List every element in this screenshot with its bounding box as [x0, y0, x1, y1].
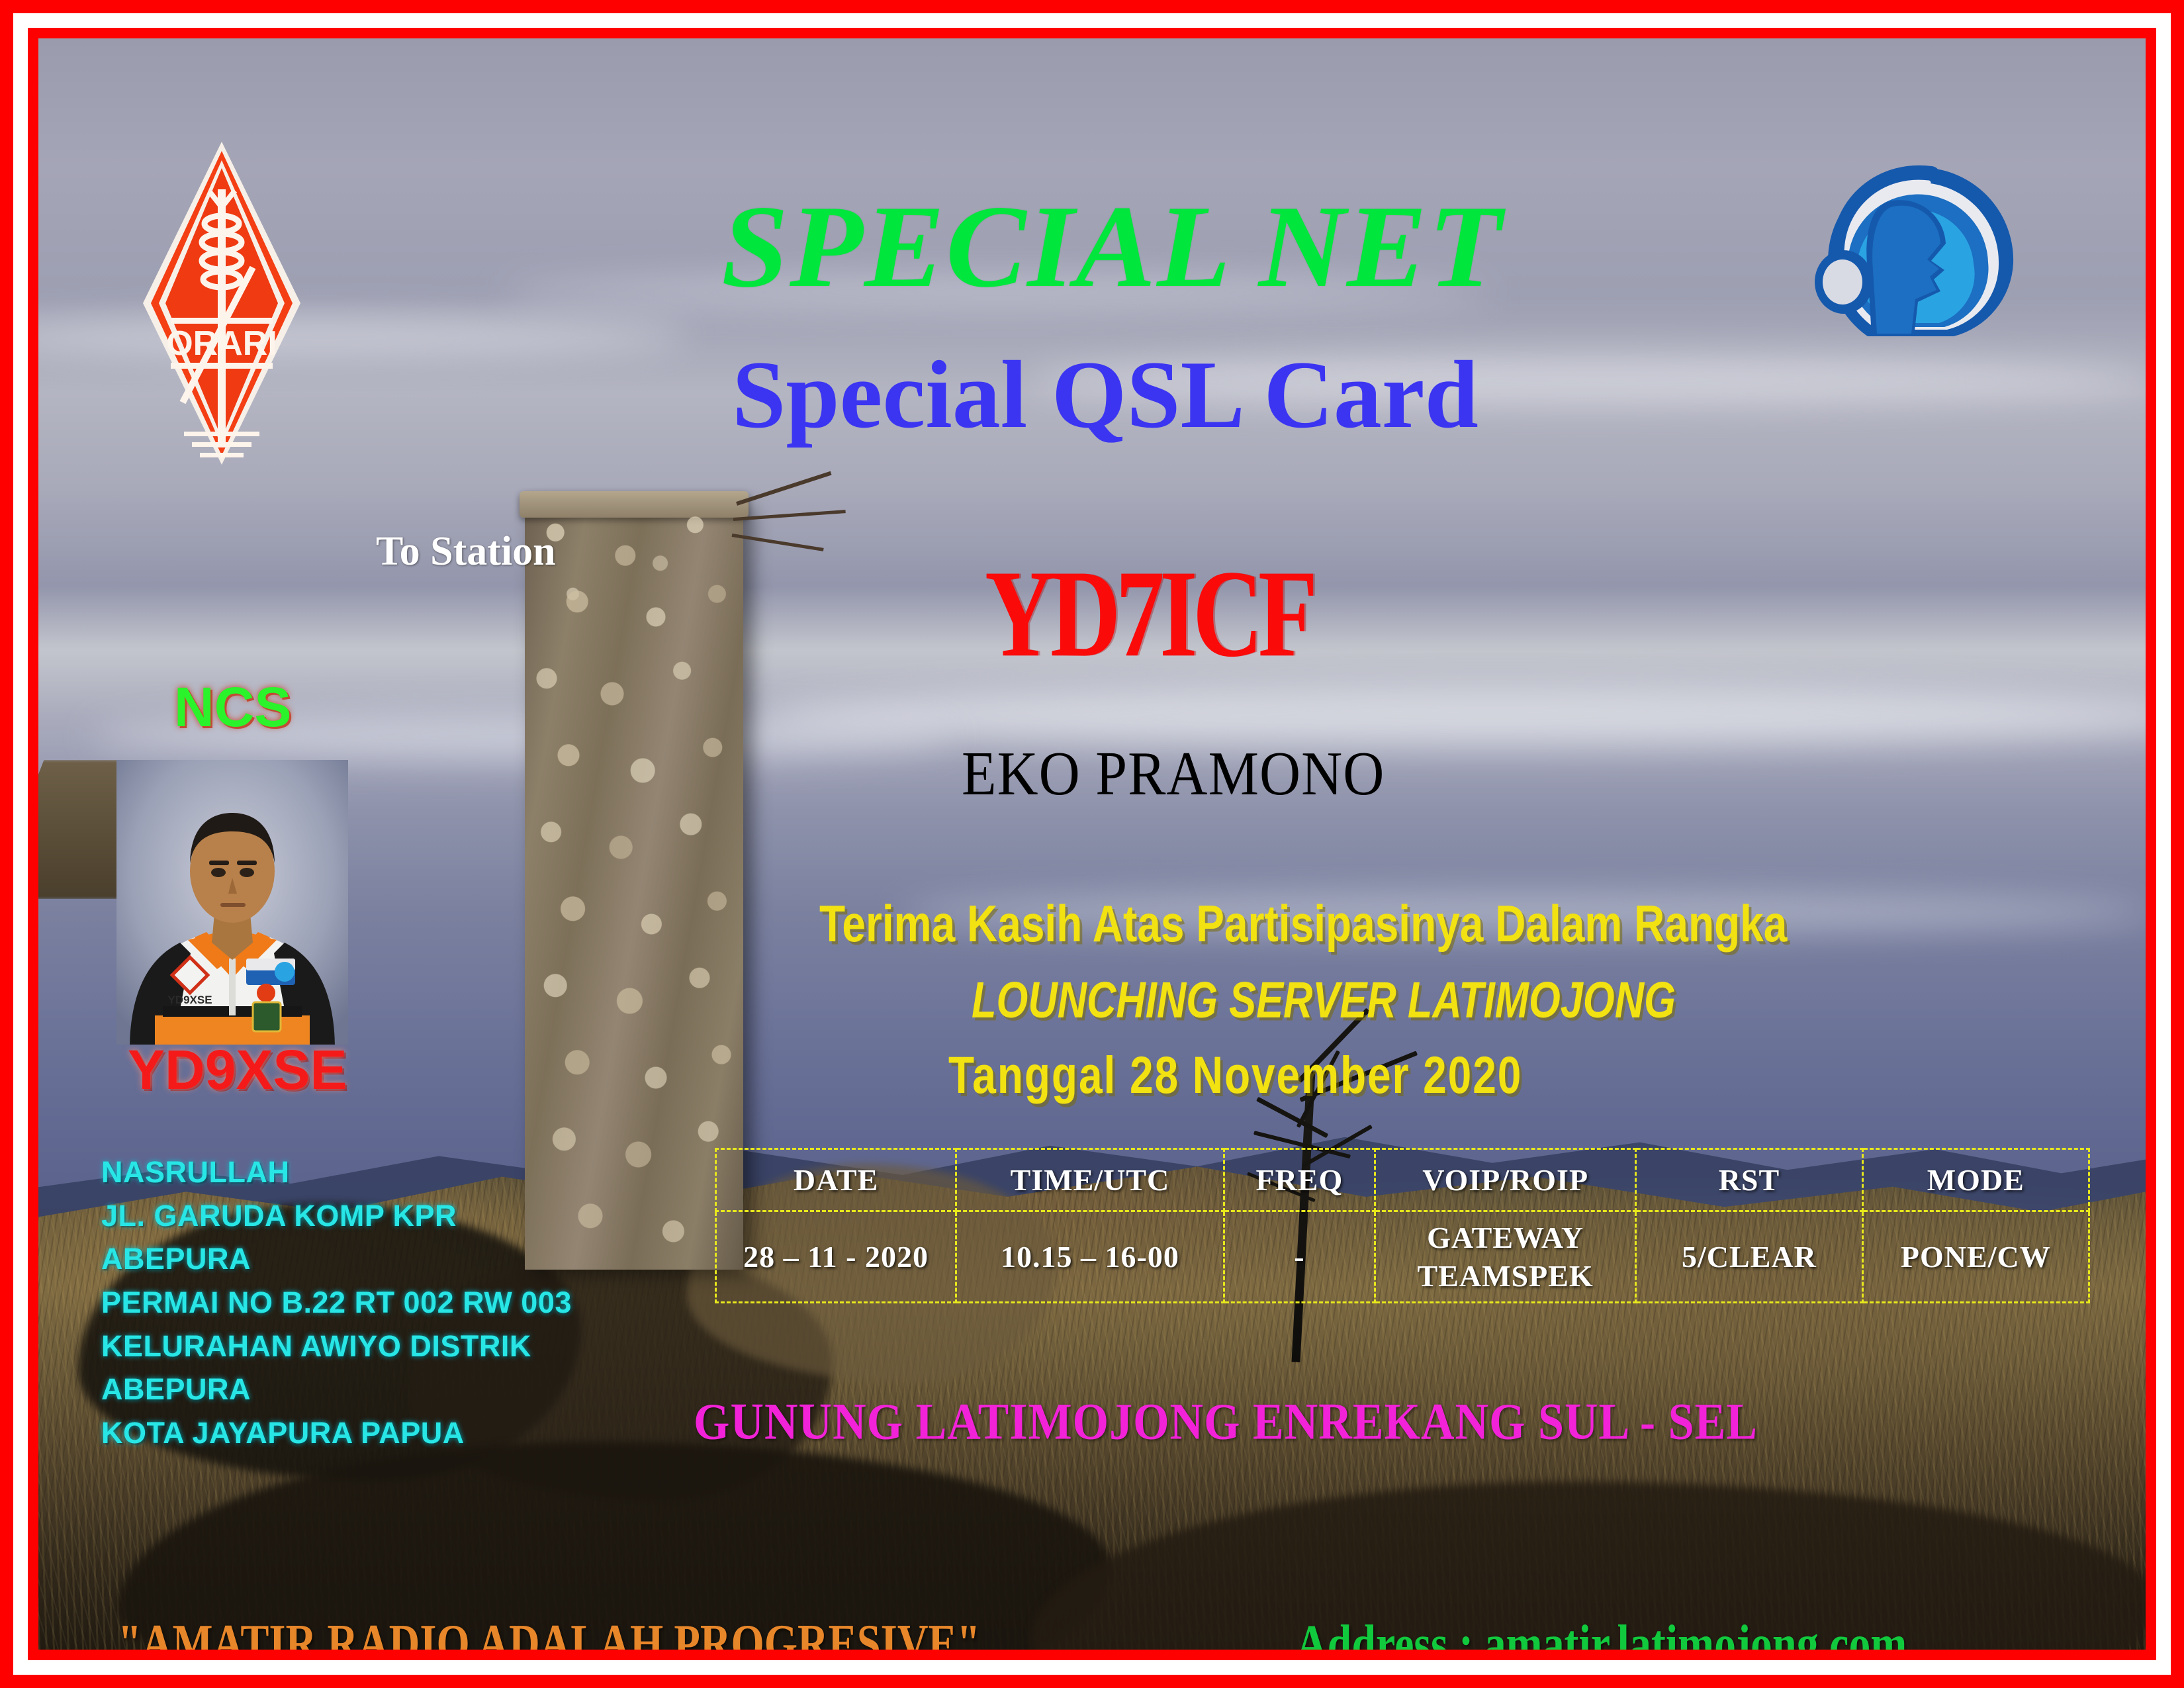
address-line: KOTA JAYAPURA PAPUA — [101, 1411, 572, 1455]
cell-rst: 5/CLEAR — [1636, 1211, 1862, 1303]
cell-time: 10.15 – 16-00 — [956, 1211, 1224, 1303]
address-line: ABEPURA — [101, 1368, 572, 1411]
qsl-card: ORARI — [0, 0, 2184, 1688]
cell-date: 28 – 11 - 2020 — [716, 1211, 956, 1303]
table-header-row: DATE TIME/UTC FREQ VOIP/ROIP RST MODE — [716, 1149, 2089, 1211]
operator-portrait-photo: YD9XSE — [116, 760, 348, 1045]
card-inner-red-border: ORARI — [28, 28, 2156, 1660]
card-white-border: ORARI — [13, 13, 2171, 1675]
address-line: NASRULLAH — [101, 1150, 572, 1194]
ncs-address-block: NASRULLAH JL. GARUDA KOMP KPR ABEPURA PE… — [101, 1150, 572, 1455]
page-title-special-net: SPECIAL NET — [38, 187, 2146, 305]
event-date-line: Tanggal 28 November 2020 — [948, 1045, 1522, 1105]
event-title-line: LOUNCHING SERVER LATIMOJONG — [972, 970, 1676, 1029]
footer-web-address: Address : amatir.latimojong.com — [1296, 1613, 1907, 1650]
address-line: PERMAI NO B.22 RT 002 RW 003 — [101, 1281, 572, 1325]
qso-details-table: DATE TIME/UTC FREQ VOIP/ROIP RST MODE 28… — [715, 1148, 2090, 1303]
ncs-callsign: YD9XSE — [128, 1038, 347, 1102]
cell-mode: PONE/CW — [1862, 1211, 2089, 1303]
ncs-label: NCS — [174, 675, 291, 739]
column-header-date: DATE — [716, 1149, 956, 1211]
cell-voip-roip: GATEWAY TEAMSPEK — [1375, 1211, 1636, 1303]
to-station-label: To Station — [376, 528, 556, 575]
column-header-time: TIME/UTC — [956, 1149, 1224, 1211]
uniform-callsign-patch: YD9XSE — [167, 994, 212, 1006]
address-line: KELURAHAN AWIYO DISTRIK — [101, 1325, 572, 1368]
footer-slogan: "AMATIR RADIO ADALAH PROGRESIVE" — [118, 1613, 980, 1650]
column-header-mode: MODE — [1862, 1149, 2089, 1211]
location-line: GUNUNG LATIMOJONG ENREKANG SUL - SEL — [694, 1393, 1758, 1452]
operator-name: EKO PRAMONO — [962, 737, 1385, 810]
column-header-voip-roip: VOIP/ROIP — [1375, 1149, 1636, 1211]
page-subtitle-qsl-card: Special QSL Card — [38, 346, 2146, 443]
address-line: ABEPURA — [101, 1237, 572, 1281]
column-header-freq: FREQ — [1224, 1149, 1375, 1211]
station-callsign: YD7ICF — [985, 541, 1313, 686]
cell-freq: - — [1224, 1211, 1375, 1303]
thanks-line-1: Terima Kasih Atas Partisipasinya Dalam R… — [819, 894, 1787, 953]
card-background-photo: ORARI — [38, 38, 2146, 1650]
column-header-rst: RST — [1636, 1149, 1862, 1211]
table-row: 28 – 11 - 2020 10.15 – 16-00 - GATEWAY T… — [716, 1211, 2089, 1303]
address-line: JL. GARUDA KOMP KPR — [101, 1194, 572, 1238]
